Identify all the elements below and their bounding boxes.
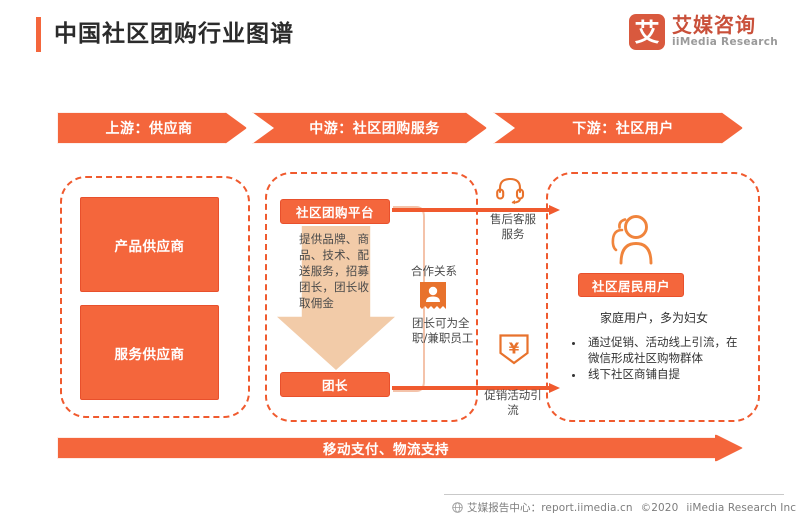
- two-people-icon: [600, 214, 662, 266]
- stage-chevron-midstream: 中游：社区团购服务: [252, 112, 487, 144]
- person-badge-icon: [418, 281, 448, 313]
- resident-subtitle: 家庭用户，多为妇女: [556, 310, 752, 326]
- footer-url[interactable]: report.iimedia.cn: [541, 502, 632, 514]
- leader-employment-note: 团长可为全职/兼职员工: [412, 316, 476, 346]
- footer-company: iiMedia Research Inc: [686, 502, 796, 514]
- stage-chevron-downstream: 下游：社区用户: [493, 112, 743, 144]
- support-arrow-label: 移动支付、物流支持: [57, 434, 743, 462]
- footer-divider: [444, 494, 784, 495]
- promotion-traffic-label: 促销活动引流: [480, 388, 546, 418]
- logo-name-cn: 艾媒咨询: [672, 15, 778, 36]
- yen-tag-icon: ¥: [498, 333, 530, 365]
- cooperation-relation-label: 合作关系: [411, 264, 477, 279]
- footer-copyright: ©2020: [641, 502, 679, 514]
- stage-chevron-upstream-label: 上游：供应商: [106, 118, 193, 138]
- logo-text: 艾媒咨询 iiMedia Research: [672, 15, 778, 49]
- stage-chevron-upstream: 上游：供应商: [57, 112, 247, 144]
- arrow-head: [549, 205, 560, 215]
- list-item: 通过促销、活动线上引流，在微信形成社区购物群体: [584, 334, 748, 366]
- box-community-resident-user: 社区居民用户: [578, 273, 684, 297]
- box-group-leader: 团长: [280, 372, 390, 397]
- brand-logo: 艾 艾媒咨询 iiMedia Research: [629, 14, 778, 50]
- list-item: 线下社区商铺自提: [584, 366, 748, 382]
- page-title: 中国社区团购行业图谱: [54, 17, 294, 52]
- stage-chevron-midstream-label: 中游：社区团购服务: [309, 118, 440, 138]
- globe-icon: [452, 502, 463, 513]
- stage-chevron-downstream-label: 下游：社区用户: [572, 118, 674, 138]
- svg-text:¥: ¥: [509, 340, 520, 358]
- box-service-supplier: 服务供应商: [80, 305, 219, 400]
- logo-name-en: iiMedia Research: [672, 36, 778, 49]
- resident-bullet-list: 通过促销、活动线上引流，在微信形成社区购物群体 线下社区商铺自提: [570, 334, 748, 382]
- headset-icon: [496, 175, 530, 205]
- title-accent-bar: [36, 17, 41, 52]
- box-group-buying-platform: 社区团购平台: [280, 199, 390, 224]
- infographic-canvas: 中国社区团购行业图谱 艾 艾媒咨询 iiMedia Research 上游：供应…: [0, 0, 800, 520]
- box-product-supplier: 产品供应商: [80, 197, 219, 292]
- downward-flow-arrow-text: 提供品牌、商品、技术、配送服务，招募团长，团长收取佣金: [299, 231, 375, 311]
- arrow-head: [549, 383, 560, 393]
- downstream-panel: [546, 172, 760, 422]
- footer: 艾媒报告中心： report.iimedia.cn ©2020 iiMedia …: [452, 500, 796, 515]
- footer-report-center: 艾媒报告中心：: [467, 500, 541, 515]
- aftersale-service-label: 售后客服服务: [487, 212, 539, 242]
- logo-mark-icon: 艾: [629, 14, 665, 50]
